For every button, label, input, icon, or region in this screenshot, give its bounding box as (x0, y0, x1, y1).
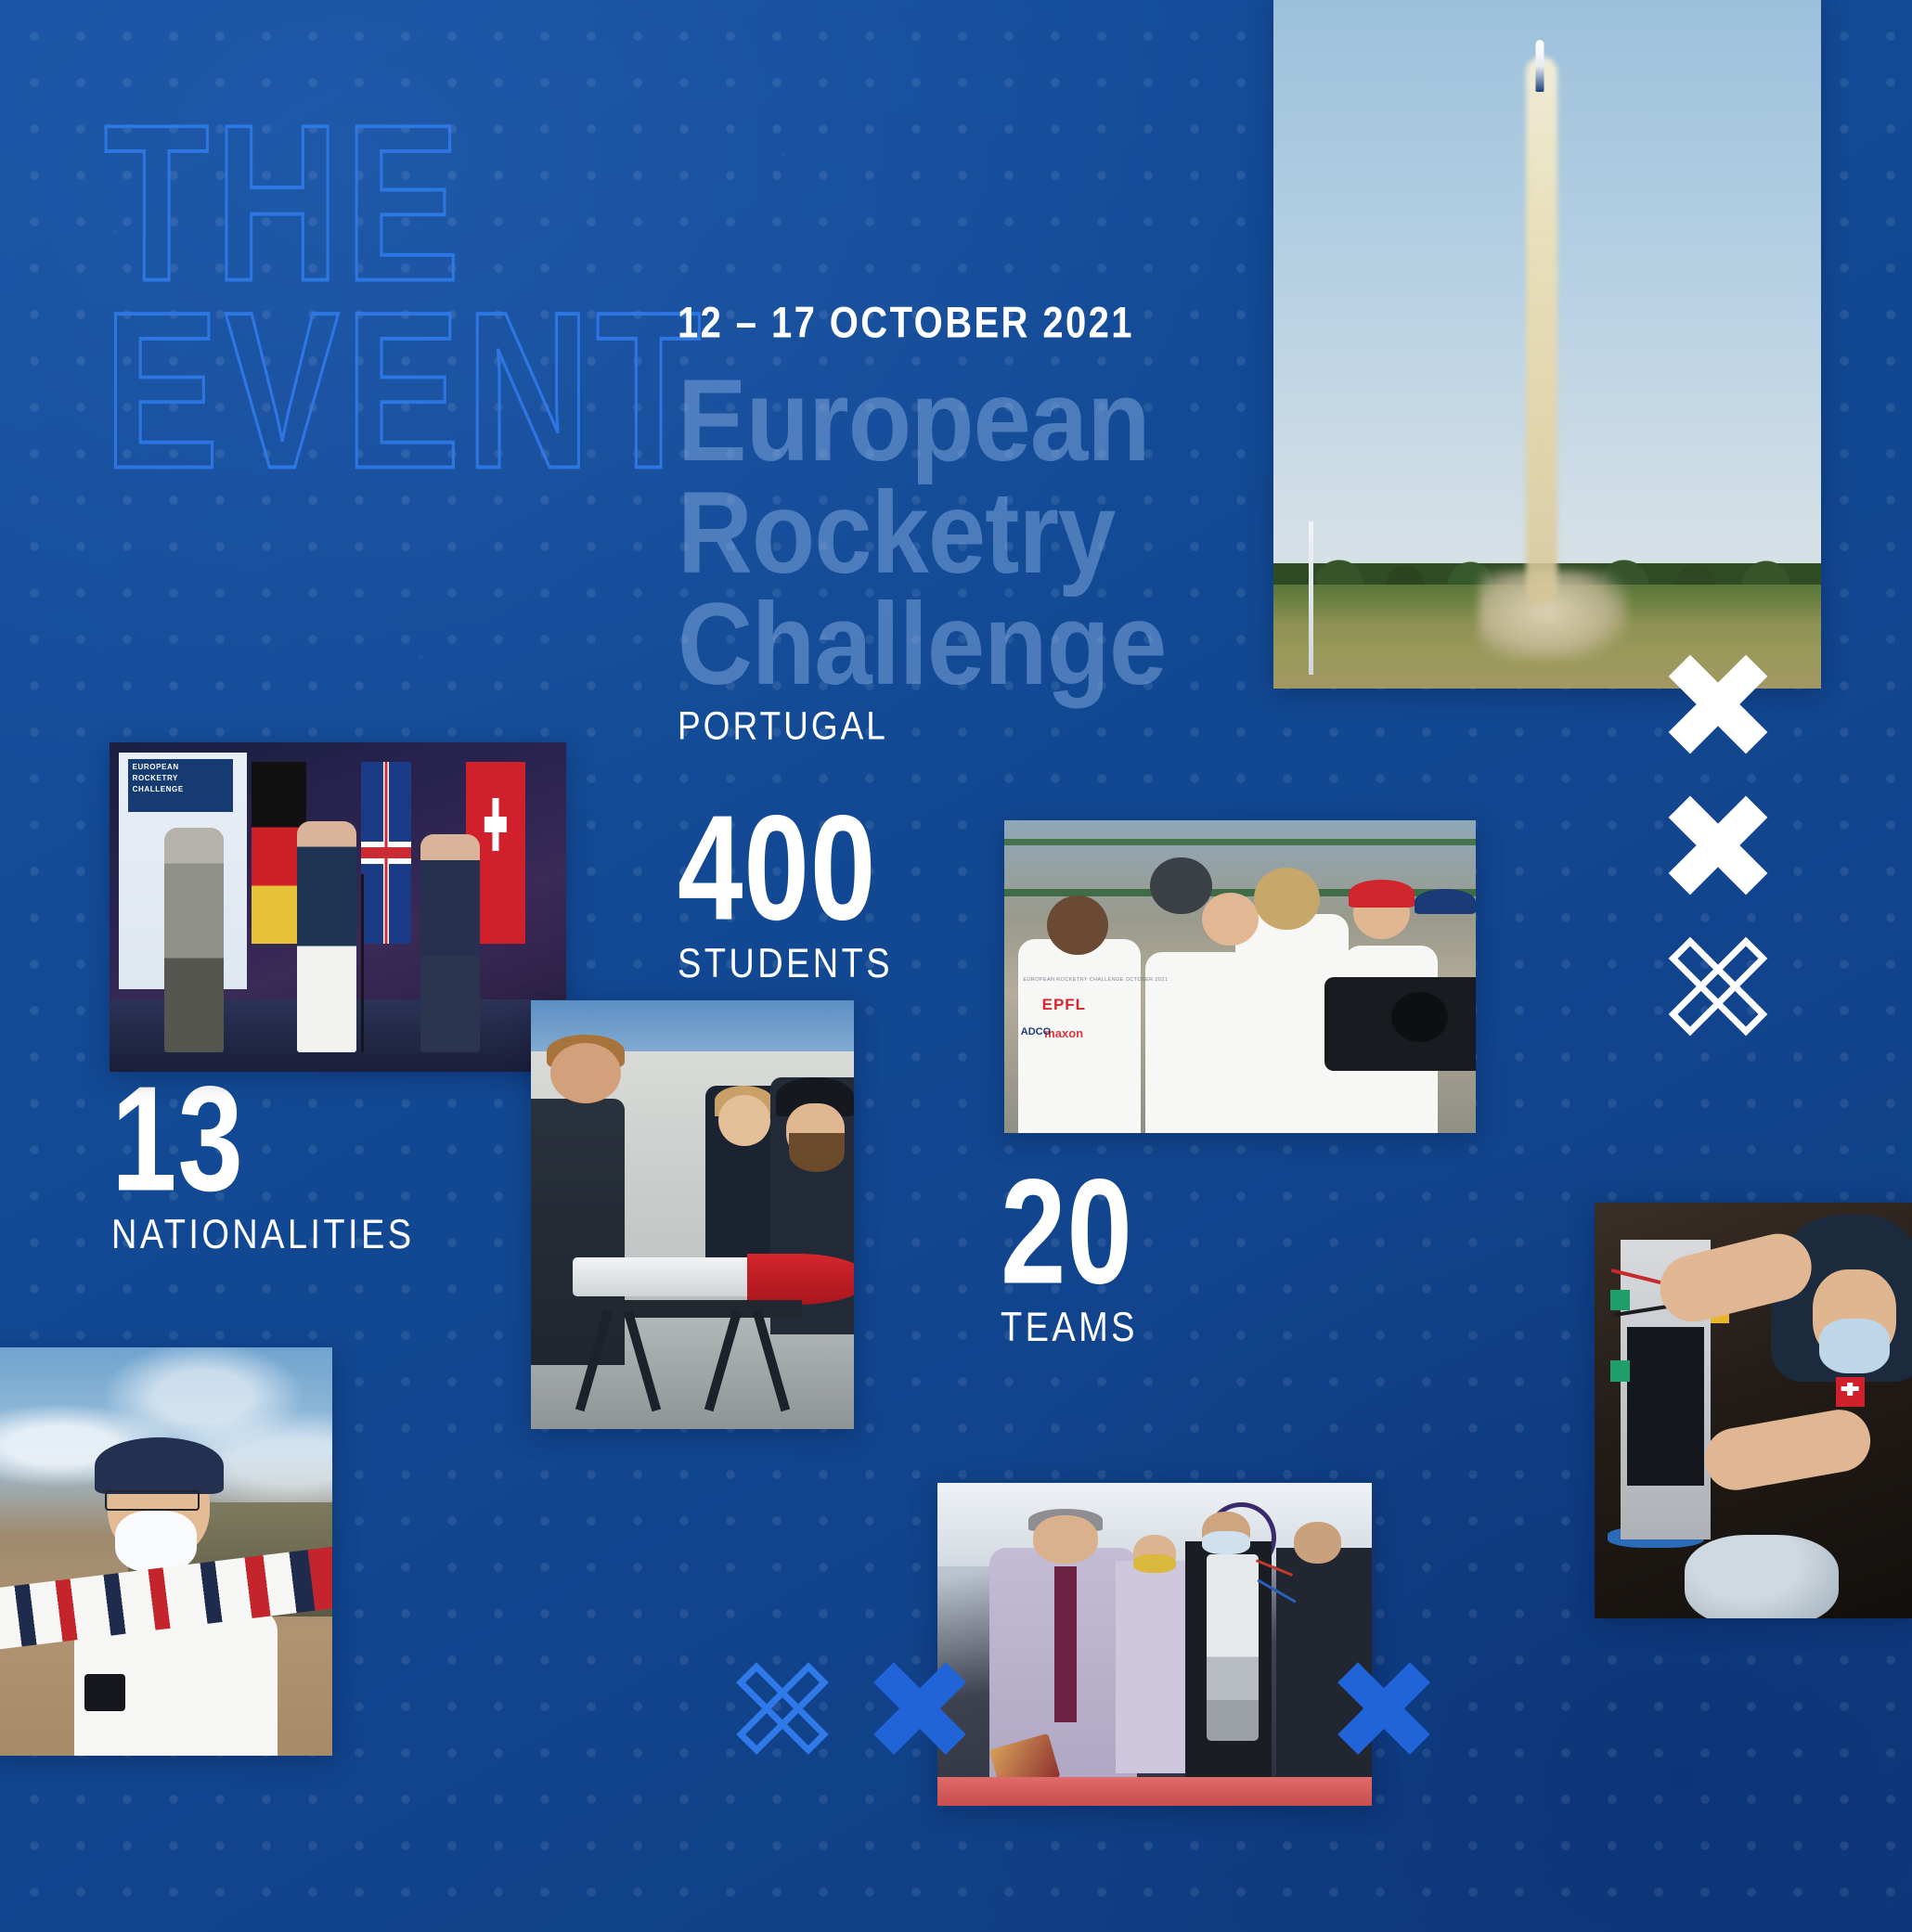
team-head-3 (1202, 893, 1259, 946)
stat-label: NATIONALITIES (111, 1212, 414, 1259)
sponsor-epfl-logo: EPFL (1042, 996, 1086, 1014)
launch-smoke-trail (1526, 57, 1557, 605)
assembly-beard-3 (789, 1133, 844, 1172)
ceremony-person-2 (297, 821, 356, 1052)
work-table (550, 1300, 802, 1317)
exhibit-person-2 (1116, 1561, 1190, 1774)
payload-exhibition-photo (937, 1483, 1372, 1806)
page-title: European Rocketry Challenge (678, 365, 1166, 700)
event-dates: 12 – 17 OCTOBER 2021 (678, 299, 1166, 348)
rocket-nose-cone (747, 1254, 854, 1305)
title-line-2: Rocketry (678, 476, 1166, 587)
camera-lens-icon (1391, 992, 1448, 1042)
stat-value: 400 (678, 804, 885, 932)
ceremony-backdrop-text: EUROPEAN ROCKETRY CHALLENGE (133, 762, 228, 795)
red-cap-icon (1349, 880, 1415, 908)
electronics-work-photo (1595, 1203, 1912, 1618)
ceremony-person-1 (164, 828, 224, 1051)
face-mask-icon (1819, 1319, 1890, 1372)
green-connector-icon (1610, 1290, 1630, 1310)
rocket-icon (1535, 40, 1544, 92)
face-mask-icon (115, 1511, 197, 1572)
navy-cap-icon (95, 1437, 224, 1495)
exhibit-visitor-head (1033, 1515, 1098, 1564)
avionics-electronics-bay (1627, 1327, 1704, 1485)
microphone-stand-icon (361, 874, 364, 1052)
sponsor-adco-logo: ADCO (1021, 1026, 1051, 1037)
ghost-headline-the-event: THE EVENT (104, 109, 707, 484)
title-block: 12 – 17 OCTOBER 2021 European Rocketry C… (678, 299, 1166, 742)
bubble-wrap (1685, 1535, 1839, 1618)
x-mark-icon (1663, 650, 1773, 759)
event-poster: THE EVENT 12 – 17 OCTOBER 2021 European … (0, 0, 1912, 1932)
exhibit-table (937, 1777, 1372, 1806)
stat-students: 400 STUDENTS (678, 804, 893, 981)
x-mark-icon (1663, 791, 1773, 900)
award-ceremony-photo: EUROPEAN ROCKETRY CHALLENGE 1 (110, 742, 566, 1072)
x-mark-outline-icon (731, 1657, 833, 1759)
blue-cap-icon (1415, 889, 1476, 914)
stat-value: 13 (111, 1075, 402, 1203)
ceremony-person-3 (420, 834, 480, 1051)
x-mark-outline-icon (1663, 932, 1773, 1041)
assembly-person-1 (531, 1099, 625, 1364)
team-head-2 (1150, 857, 1211, 914)
wristwatch-icon (84, 1674, 125, 1711)
team-celebration-photo: EUROPEAN ROCKETRY CHALLENGE OCTOBER 2021… (1004, 820, 1476, 1133)
stat-teams: 20 TEAMS (1001, 1167, 1139, 1345)
title-line-3: Challenge (678, 588, 1166, 700)
team-head-1 (1047, 895, 1108, 955)
tshirt-event-line: EUROPEAN ROCKETRY CHALLENGE OCTOBER 2021 (1023, 977, 1168, 983)
stat-nationalities: 13 NATIONALITIES (111, 1075, 414, 1252)
title-line-1: European (678, 365, 1166, 476)
flag-united-kingdom (361, 762, 411, 943)
yellow-face-mask-icon (1133, 1554, 1177, 1574)
necktie-icon (1054, 1566, 1076, 1721)
assembly-head-1 (550, 1043, 622, 1103)
x-mark-icon (869, 1657, 971, 1759)
carrying-rocket-photo (0, 1347, 332, 1756)
assembly-head-2 (718, 1095, 770, 1146)
stat-value: 20 (1001, 1167, 1133, 1295)
event-country: PORTUGAL (678, 703, 1166, 749)
launch-tower (1309, 522, 1313, 675)
rocket-assembly-photo (531, 1000, 854, 1429)
stat-label: STUDENTS (678, 941, 893, 988)
flag-switzerland (1836, 1377, 1865, 1406)
rocket-payload-module (1207, 1554, 1259, 1742)
face-mask-icon (1202, 1531, 1249, 1553)
exhibit-head-4 (1294, 1522, 1341, 1564)
rocket-launch-photo (1273, 0, 1821, 689)
stat-label: TEAMS (1001, 1305, 1139, 1352)
glasses-icon (105, 1490, 200, 1511)
green-connector-icon (1610, 1360, 1630, 1381)
x-mark-icon (1333, 1657, 1435, 1759)
team-head-4 (1254, 868, 1320, 930)
team-railing-top (1004, 839, 1476, 845)
